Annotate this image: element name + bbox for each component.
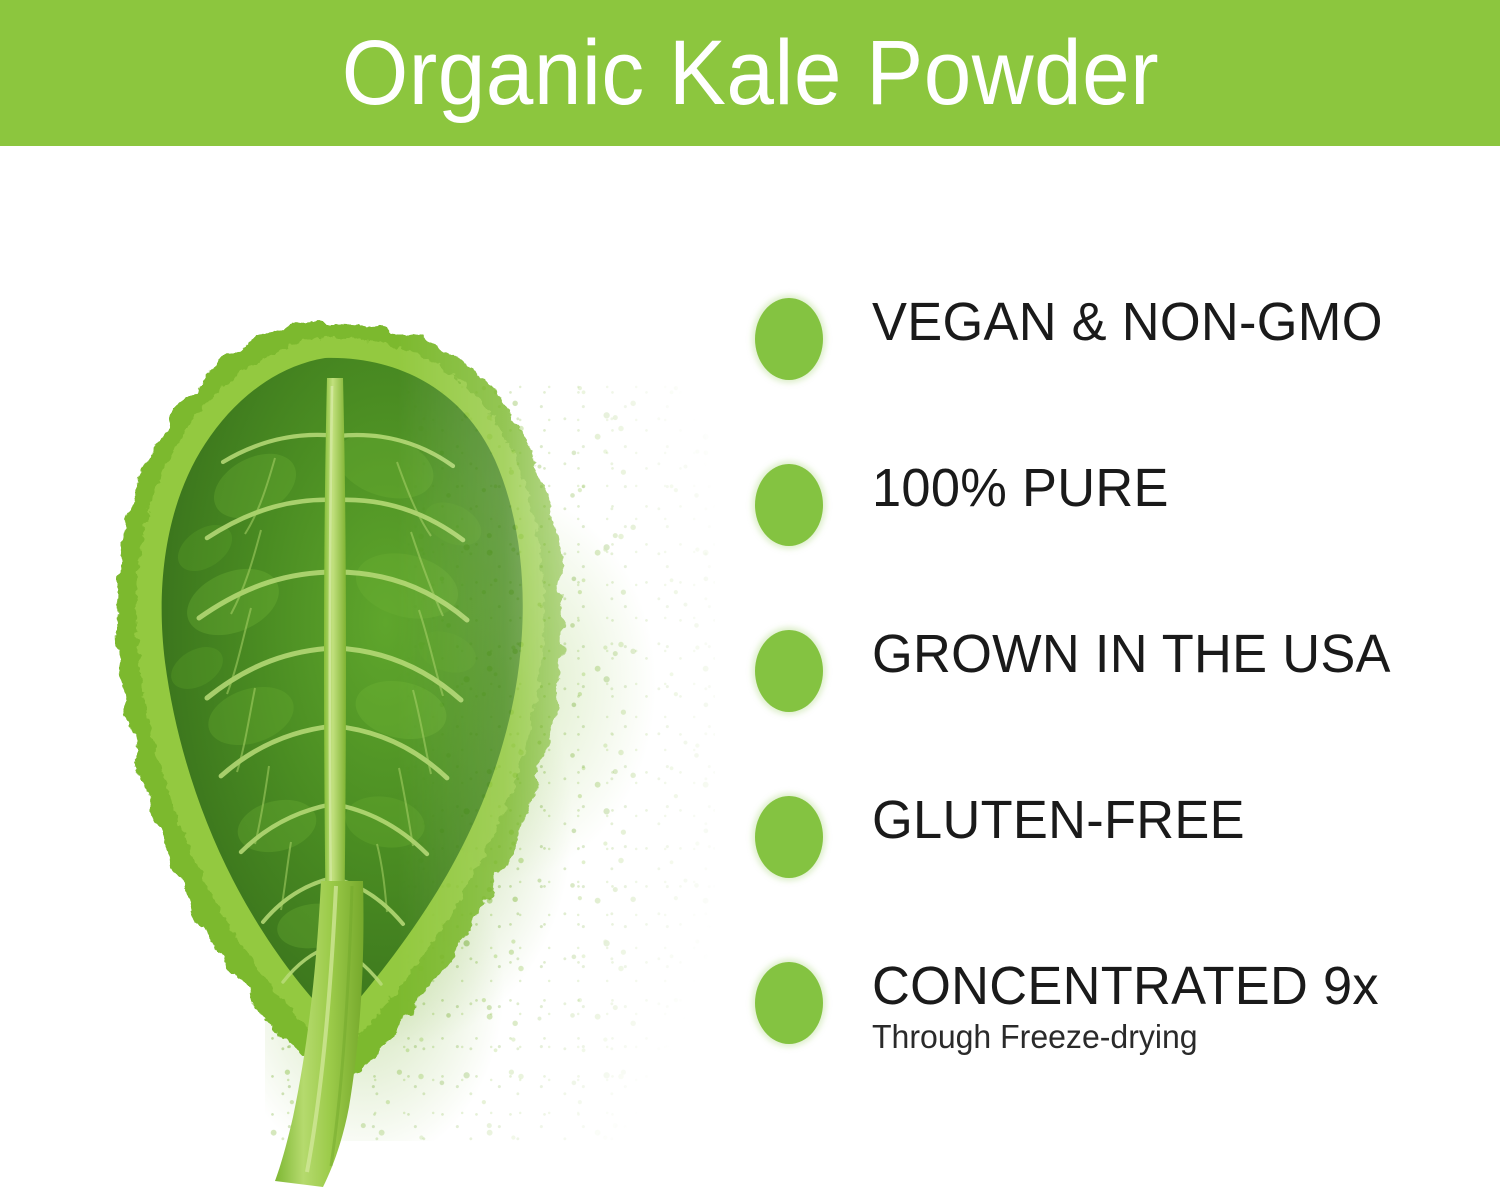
page-title: Organic Kale Powder bbox=[341, 27, 1158, 119]
feature-text-block: CONCENTRATED 9x Through Freeze-drying bbox=[872, 958, 1395, 1056]
feature-sublabel: Through Freeze-drying bbox=[872, 1019, 1379, 1055]
feature-text-block: GLUTEN-FREE bbox=[872, 792, 1256, 849]
header-banner: Organic Kale Powder bbox=[0, 0, 1500, 146]
feature-text-block: GROWN IN THE USA bbox=[872, 626, 1407, 683]
hero-image-panel bbox=[0, 146, 740, 1125]
feature-label: VEGAN & NON-GMO bbox=[872, 294, 1383, 351]
feature-item-grown-in-usa[interactable]: GROWN IN THE USA bbox=[740, 628, 1407, 712]
kale-leaf-image bbox=[55, 286, 715, 1196]
feature-list: VEGAN & NON-GMO 100% PURE GROWN IN THE U… bbox=[740, 146, 1500, 1125]
feature-text-block: 100% PURE bbox=[872, 460, 1178, 517]
feature-label: 100% PURE bbox=[872, 460, 1169, 517]
feature-item-vegan-non-gmo[interactable]: VEGAN & NON-GMO bbox=[740, 296, 1399, 380]
bullet-dot-icon bbox=[755, 464, 823, 546]
bullet-dot-icon bbox=[755, 962, 823, 1044]
feature-item-gluten-free[interactable]: GLUTEN-FREE bbox=[740, 794, 1256, 878]
bullet-dot-icon bbox=[755, 630, 823, 712]
feature-label: GLUTEN-FREE bbox=[872, 792, 1245, 849]
feature-item-concentrated-9x[interactable]: CONCENTRATED 9x Through Freeze-drying bbox=[740, 960, 1395, 1056]
feature-label: GROWN IN THE USA bbox=[872, 626, 1391, 683]
feature-item-100-pure[interactable]: 100% PURE bbox=[740, 462, 1178, 546]
feature-label: CONCENTRATED 9x bbox=[872, 958, 1379, 1015]
bullet-dot-icon bbox=[755, 796, 823, 878]
kale-leaf-illustration bbox=[55, 286, 715, 1196]
feature-text-block: VEGAN & NON-GMO bbox=[872, 294, 1399, 351]
bullet-dot-icon bbox=[755, 298, 823, 380]
